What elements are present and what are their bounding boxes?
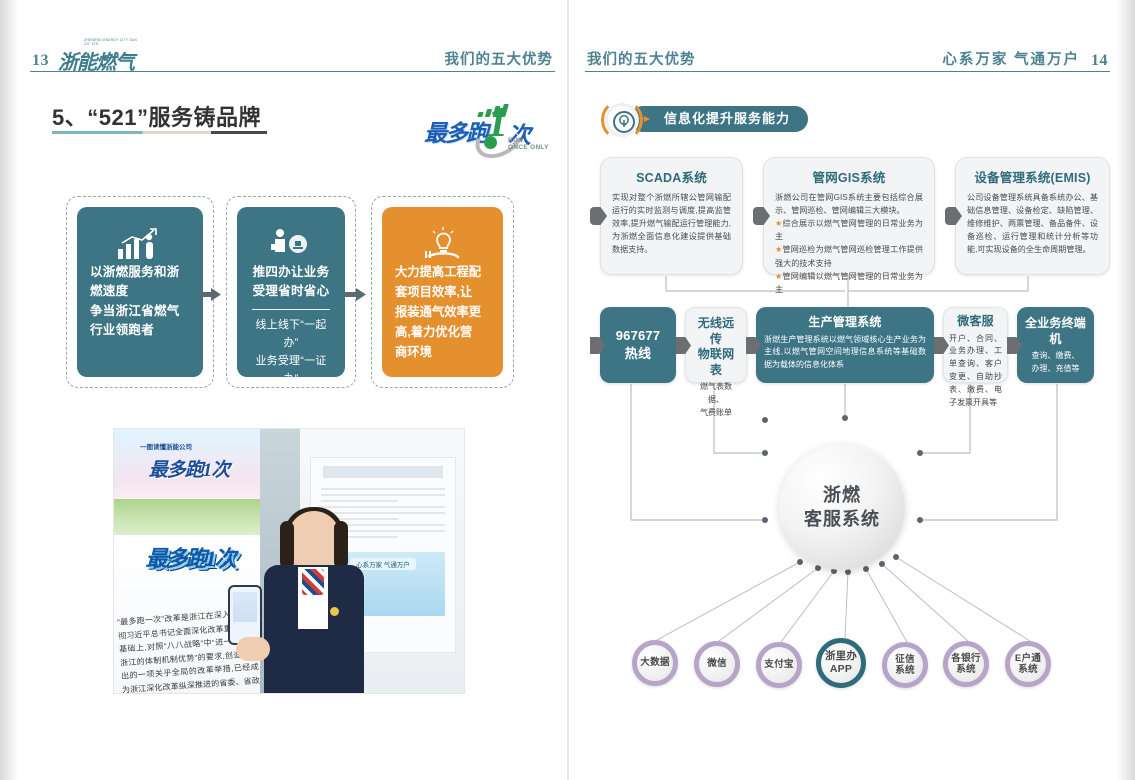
system-card-gis-bullet-2: ★管网巡检为燃气管网巡检管理工作提供强大的技术支持 [775, 243, 923, 269]
photo-poster-green [114, 499, 260, 535]
gis-bullet-1-text: 综合展示以燃气管网管理的日常业务为主 [775, 219, 923, 241]
header-tagline-right-left: 我们的五大优势 [587, 48, 696, 69]
node-wechat[interactable]: 微信 [694, 641, 740, 687]
system-card-emis-title: 设备管理系统(EMIS) [967, 167, 1098, 186]
channel-iot-meter-tab [676, 337, 691, 354]
wire-dot-n4 [845, 569, 851, 575]
photo-person [254, 511, 374, 694]
node-banks-label: 各银行 系统 [951, 653, 980, 676]
wire-dot-left-upper [762, 450, 768, 456]
photo-person-badge [330, 607, 339, 616]
flow-card-1-heading: 以浙燃服务和浙 燃速度 争当浙江省燃气 行业领跑者 [90, 263, 190, 341]
channel-hotline-tab [590, 337, 605, 354]
system-card-emis[interactable]: 设备管理系统(EMIS) 公司设备管理系统具备系统办公、基础信息管理、设备检定、… [955, 157, 1110, 275]
run-once-logo-subtitle: RUNONCE ONLY [508, 138, 549, 152]
service-counter-icon [250, 223, 332, 259]
brochure-spread: 13 ZHENENG ENERGY CITY GAS CO. LTD 浙能燃气 … [0, 0, 1135, 780]
event-photo: 一图读懂浙能公司 最多跑1次 最多跑1次 “最多跑一次”改革是浙江在深入学习贯彻… [113, 428, 465, 694]
node-zhejiang-app-label: 浙里办 APP [825, 650, 857, 675]
brand-logo: ZHENENG ENERGY CITY GAS CO. LTD 浙能燃气 [58, 41, 138, 71]
node-credit-system[interactable]: 征信 系统 [882, 642, 928, 688]
hub-line-2: 客服系统 [804, 507, 880, 531]
channel-wechat-service-title: 微客服 [949, 314, 1002, 330]
page-number-left: 13 [32, 52, 49, 70]
customer-service-hub-label: 浙燃 客服系统 [804, 483, 880, 532]
system-card-scada[interactable]: SCADA系统 实现对整个浙燃所辖公管网输配运行的实时监测与调度,提高监管效率,… [600, 157, 743, 275]
hub-line-1: 浙燃 [804, 483, 880, 507]
system-card-scada-body: 实现对整个浙燃所辖公管网输配运行的实时监测与调度,提高监管效率,提升燃气输配运行… [612, 191, 731, 257]
photo-poster-title: 最多跑1次 [124, 455, 254, 482]
flow-card-3-heading: 大力提高工程配 套项目效率,让 报装通气效率更 高,着力优化营 商环境 [395, 263, 490, 363]
photo-person-hair-right [334, 521, 348, 569]
node-big-data-label: 大数据 [640, 657, 669, 669]
bar-chart-person-icon [90, 223, 190, 259]
lightbulb-hand-icon [395, 223, 490, 259]
channel-wechat-service-tab [934, 337, 949, 354]
flow-arrow-2 [344, 288, 366, 301]
node-alipay[interactable]: 支付宝 [756, 642, 802, 688]
header-rule-left [30, 71, 555, 73]
info-capability-banner-label: 信息化提升服务能力 [630, 106, 808, 132]
flow-arrow-1 [199, 288, 221, 301]
banner-arrow-icon [639, 118, 649, 119]
channel-self-terminal[interactable]: 全业务终端机 查询、缴费、 办理、充值等 [1017, 307, 1094, 383]
system-card-gis[interactable]: 管网GIS系统 浙燃公司在管网GIS系统主要包括综合展示、管网巡检、管网编辑三大… [763, 157, 935, 275]
node-ehutong-label: E户通 系统 [1015, 653, 1041, 676]
photo-person-hair-left [280, 521, 294, 569]
service-flow: 以浙燃服务和浙 燃速度 争当浙江省燃气 行业领跑者 推四办让业务 受理省时省心 [66, 196, 514, 388]
wire-dot-right-upper [917, 450, 923, 456]
node-wechat-label: 微信 [707, 658, 727, 670]
node-credit-system-label: 征信 系统 [895, 654, 915, 677]
wire-dot-n5 [863, 566, 869, 572]
channel-iot-meter-title: 无线远传 物联网表 [694, 316, 738, 378]
node-alipay-label: 支付宝 [764, 659, 793, 671]
photo-person-hand [236, 637, 270, 661]
channel-production-mgmt[interactable]: 生产管理系统 浙燃生产管理系统以燃气领域核心生产业务为主线,以燃气管网空间地理信… [756, 307, 934, 383]
customer-service-hub[interactable]: 浙燃 客服系统 [779, 444, 905, 570]
channel-wechat-service[interactable]: 微客服 开户、合同、业务办理、工单查询、客户变更、自助抄表、缴费、电子发票开具等 [943, 307, 1008, 383]
wire-dot-n7 [893, 554, 899, 560]
channel-production-mgmt-tab [746, 337, 761, 354]
wire-dot-center-top [842, 415, 848, 421]
system-card-emis-body: 公司设备管理系统具备系统办公、基础信息管理、设备检定、缺陷管理、维修维护、两票管… [967, 191, 1098, 257]
system-card-gis-bullet-3: ★管网编辑以燃气管网管理的日常业务为主 [775, 270, 923, 296]
gis-bullet-2-text: 管网巡检为燃气管网巡检管理工作提供强大的技术支持 [775, 245, 923, 267]
photo-panel-title-bar [323, 466, 443, 478]
page-number-right: 14 [1091, 52, 1108, 70]
channel-self-terminal-sub: 查询、缴费、 办理、充值等 [1025, 350, 1086, 376]
photo-person-phone [228, 585, 262, 645]
run-once-logo: 最多跑 1 次 RUNONCE ONLY [424, 100, 544, 158]
flow-card-3-inner: 大力提高工程配 套项目效率,让 报装通气效率更 高,着力优化营 商环境 [382, 207, 503, 377]
photo-person-head [288, 511, 340, 569]
system-card-gis-body: 浙燃公司在管网GIS系统主要包括综合展示、管网巡检、管网编辑三大模块。 [775, 191, 923, 217]
wire-dot-top [762, 417, 768, 423]
gis-bullet-3-text: 管网编辑以燃气管网管理的日常业务为主 [775, 272, 923, 294]
channel-iot-meter[interactable]: 无线远传 物联网表 燃气表数据、 气费账单 [685, 307, 747, 383]
channel-wechat-service-sub: 开户、合同、业务办理、工单查询、客户变更、自助抄表、缴费、电子发票开具等 [949, 333, 1002, 410]
system-card-scada-tab [590, 207, 607, 225]
system-card-scada-title: SCADA系统 [612, 167, 731, 186]
header-slogan-right: 心系万家 气通万户 [942, 48, 1080, 69]
header-right: 我们的五大优势 心系万家 气通万户 14 [585, 38, 1110, 72]
channel-production-mgmt-sub: 浙燃生产管理系统以燃气领域核心生产业务为主线,以燃气管网空间地理信息系统等基础数… [764, 334, 926, 372]
channel-self-terminal-tab [1007, 337, 1022, 354]
system-card-gis-bullet-1: ★综合展示以燃气管网管理的日常业务为主 [775, 217, 923, 243]
photo-poster-title-2: 最多跑1次 [120, 549, 260, 570]
system-card-emis-tab [945, 207, 962, 225]
photo-poster-kicker: 一图读懂浙能公司 [140, 441, 192, 451]
node-ehutong[interactable]: E户通 系统 [1005, 641, 1051, 687]
channel-hotline-title: 967677 热线 [608, 327, 668, 362]
wire-dot-left-lower [762, 517, 768, 523]
channel-iot-meter-sub: 燃气表数据、 气费账单 [694, 381, 738, 419]
run-once-logo-dot [484, 136, 497, 149]
node-big-data[interactable]: 大数据 [632, 640, 678, 686]
flow-card-3: 大力提高工程配 套项目效率,让 报装通气效率更 高,着力优化营 商环境 [371, 196, 514, 388]
flow-card-2-heading: 推四办让业务 受理省时省心 [250, 263, 332, 302]
service-channel-row: 967677 热线 无线远传 物联网表 燃气表数据、 气费账单 生产管理系统 浙… [595, 307, 1115, 387]
flow-card-2-inner: 推四办让业务 受理省时省心 线上线下“一起办” 业务受理“一证办” 申请通气“马… [237, 207, 345, 377]
page-gutter [567, 0, 569, 780]
header-left: 13 ZHENENG ENERGY CITY GAS CO. LTD 浙能燃气 … [30, 38, 555, 72]
flow-card-2-divider [252, 309, 330, 311]
section-title: 5、“521”服务铸品牌 [52, 100, 261, 132]
core-systems-row: SCADA系统 实现对整个浙燃所辖公管网输配运行的实时监测与调度,提高监管效率,… [595, 157, 1115, 277]
channel-self-terminal-title: 全业务终端机 [1025, 316, 1086, 347]
header-rule-right [585, 71, 1110, 73]
banner-ring [606, 104, 638, 136]
system-card-gis-title: 管网GIS系统 [775, 167, 923, 186]
channel-production-mgmt-title: 生产管理系统 [764, 315, 926, 331]
channel-hotline[interactable]: 967677 热线 [600, 307, 676, 383]
target-touch-icon [613, 111, 635, 133]
flow-card-1: 以浙燃服务和浙 燃速度 争当浙江省燃气 行业领跑者 [66, 196, 214, 388]
system-card-gis-tab [753, 207, 770, 225]
section-title-underline [52, 131, 267, 134]
flow-card-1-inner: 以浙燃服务和浙 燃速度 争当浙江省燃气 行业领跑者 [77, 207, 203, 377]
node-zhejiang-app[interactable]: 浙里办 APP [816, 638, 866, 688]
photo-person-scarf [302, 569, 324, 595]
wire-dot-n6 [879, 561, 885, 567]
wire-dot-right-lower [917, 517, 923, 523]
node-banks[interactable]: 各银行 系统 [943, 641, 989, 687]
wire-dot-n1 [797, 559, 803, 565]
flow-card-2: 推四办让业务 受理省时省心 线上线下“一起办” 业务受理“一证办” 申请通气“马… [226, 196, 356, 388]
header-tagline-left: 我们的五大优势 [445, 48, 554, 69]
